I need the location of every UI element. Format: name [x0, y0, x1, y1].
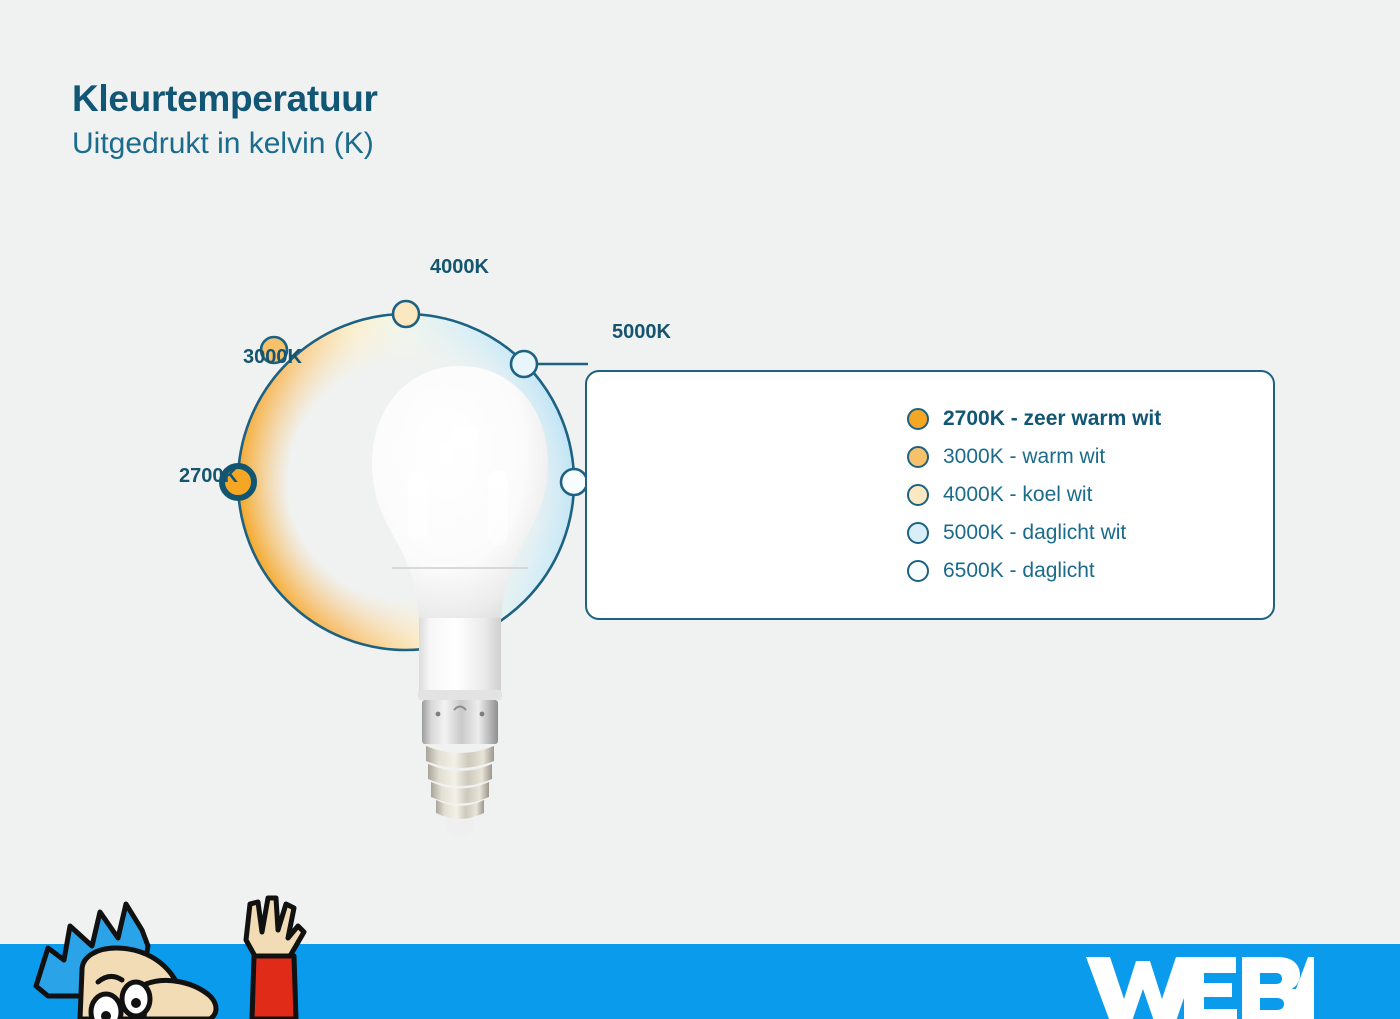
heading-block: Kleurtemperatuur Uitgedrukt in kelvin (K…	[72, 78, 378, 162]
legend-label-6500k: 6500K - daglicht	[943, 559, 1095, 583]
legend-label-4000k: 4000K - koel wit	[943, 483, 1092, 507]
legend-item-5000k[interactable]: 5000K - daglicht wit	[907, 516, 1161, 549]
legend-swatch-5000k	[907, 522, 929, 544]
bulb-cap-rivet-1	[436, 712, 441, 717]
legend-swatch-3000k	[907, 446, 929, 468]
bulb-neck	[419, 618, 501, 694]
dial-label-5000k: 5000K	[612, 321, 671, 344]
dial-label-4000k: 4000K	[430, 256, 489, 279]
mascot-nose	[144, 980, 216, 1019]
page-title: Kleurtemperatuur	[72, 78, 378, 119]
legend-item-6500k[interactable]: 6500K - daglicht	[907, 554, 1161, 587]
page-subtitle: Uitgedrukt in kelvin (K)	[72, 127, 378, 162]
legend-label-3000k: 3000K - warm wit	[943, 445, 1105, 469]
mascot-icon	[18, 886, 368, 1019]
legend-label-5000k: 5000K - daglicht wit	[943, 521, 1126, 545]
bulb-screw-threads	[426, 746, 494, 819]
legend-label-2700k: 2700K - zeer warm wit	[943, 407, 1161, 431]
mascot-sleeve	[252, 956, 296, 1019]
mascot-character	[18, 886, 368, 1019]
mascot-hand	[246, 898, 304, 958]
infographic-canvas: Kleurtemperatuur Uitgedrukt in kelvin (K…	[0, 0, 1400, 1019]
bulb-collar	[418, 690, 502, 700]
legend-list: 2700K - zeer warm wit 3000K - warm wit 4…	[907, 402, 1161, 587]
light-bulb-illustration	[370, 360, 550, 840]
weba-logo	[1084, 947, 1314, 1019]
bulb-highlight-left	[408, 472, 428, 542]
weba-logo-icon	[1084, 947, 1314, 1019]
legend-swatch-4000k	[907, 484, 929, 506]
dial-label-3000k: 3000K	[243, 346, 302, 369]
legend-item-2700k[interactable]: 2700K - zeer warm wit	[907, 402, 1161, 435]
legend-swatch-6500k	[907, 560, 929, 582]
legend-swatch-2700k	[907, 408, 929, 430]
bulb-highlight-right	[488, 470, 508, 546]
legend-item-3000k[interactable]: 3000K - warm wit	[907, 440, 1161, 473]
light-bulb-icon	[370, 360, 550, 840]
legend-callout-box: 2700K - zeer warm wit 3000K - warm wit 4…	[585, 370, 1275, 620]
bulb-glass-body	[372, 366, 548, 622]
legend-item-4000k[interactable]: 4000K - koel wit	[907, 478, 1161, 511]
dial-node-6500[interactable]	[561, 469, 587, 495]
dial-label-2700k: 2700K	[179, 465, 238, 488]
mascot-pupil-right	[131, 998, 141, 1008]
dial-node-4000[interactable]	[393, 301, 419, 327]
bulb-highlight-square	[452, 426, 478, 460]
bulb-cap-rivet-2	[480, 712, 485, 717]
